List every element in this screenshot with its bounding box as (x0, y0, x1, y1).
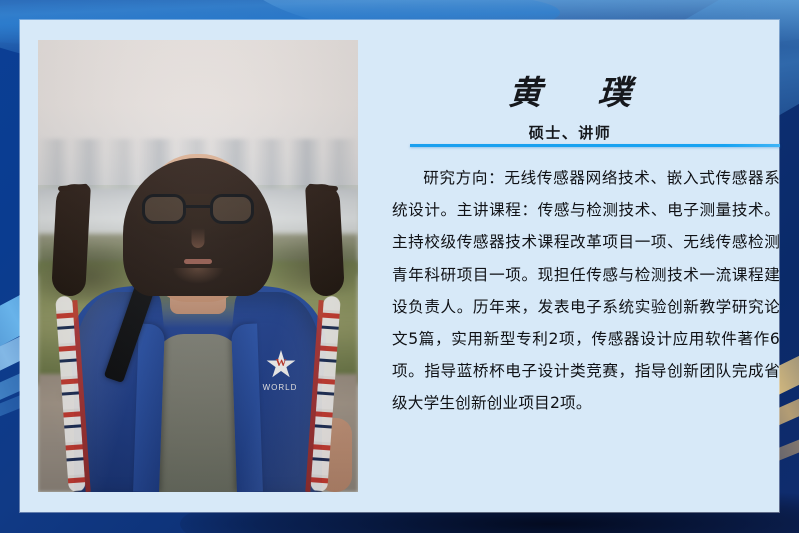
title-divider (410, 144, 780, 147)
person-title: 硕士、讲师 (380, 122, 760, 143)
content-panel: W WORLD (20, 20, 779, 512)
portrait-photo: W WORLD (38, 40, 358, 492)
person-bio: 研究方向：无线传感器网络技术、嵌入式传感器系统设计。主讲课程：传感与检测技术、电… (392, 162, 780, 420)
photo-vignette (38, 40, 358, 492)
profile-text-column: 黄 璞 硕士、讲师 研究方向：无线传感器网络技术、嵌入式传感器系统设计。主讲课程… (380, 40, 780, 532)
profile-poster: W WORLD (0, 0, 799, 533)
person-name: 黄 璞 (379, 66, 762, 114)
photo-canvas: W WORLD (38, 40, 358, 492)
